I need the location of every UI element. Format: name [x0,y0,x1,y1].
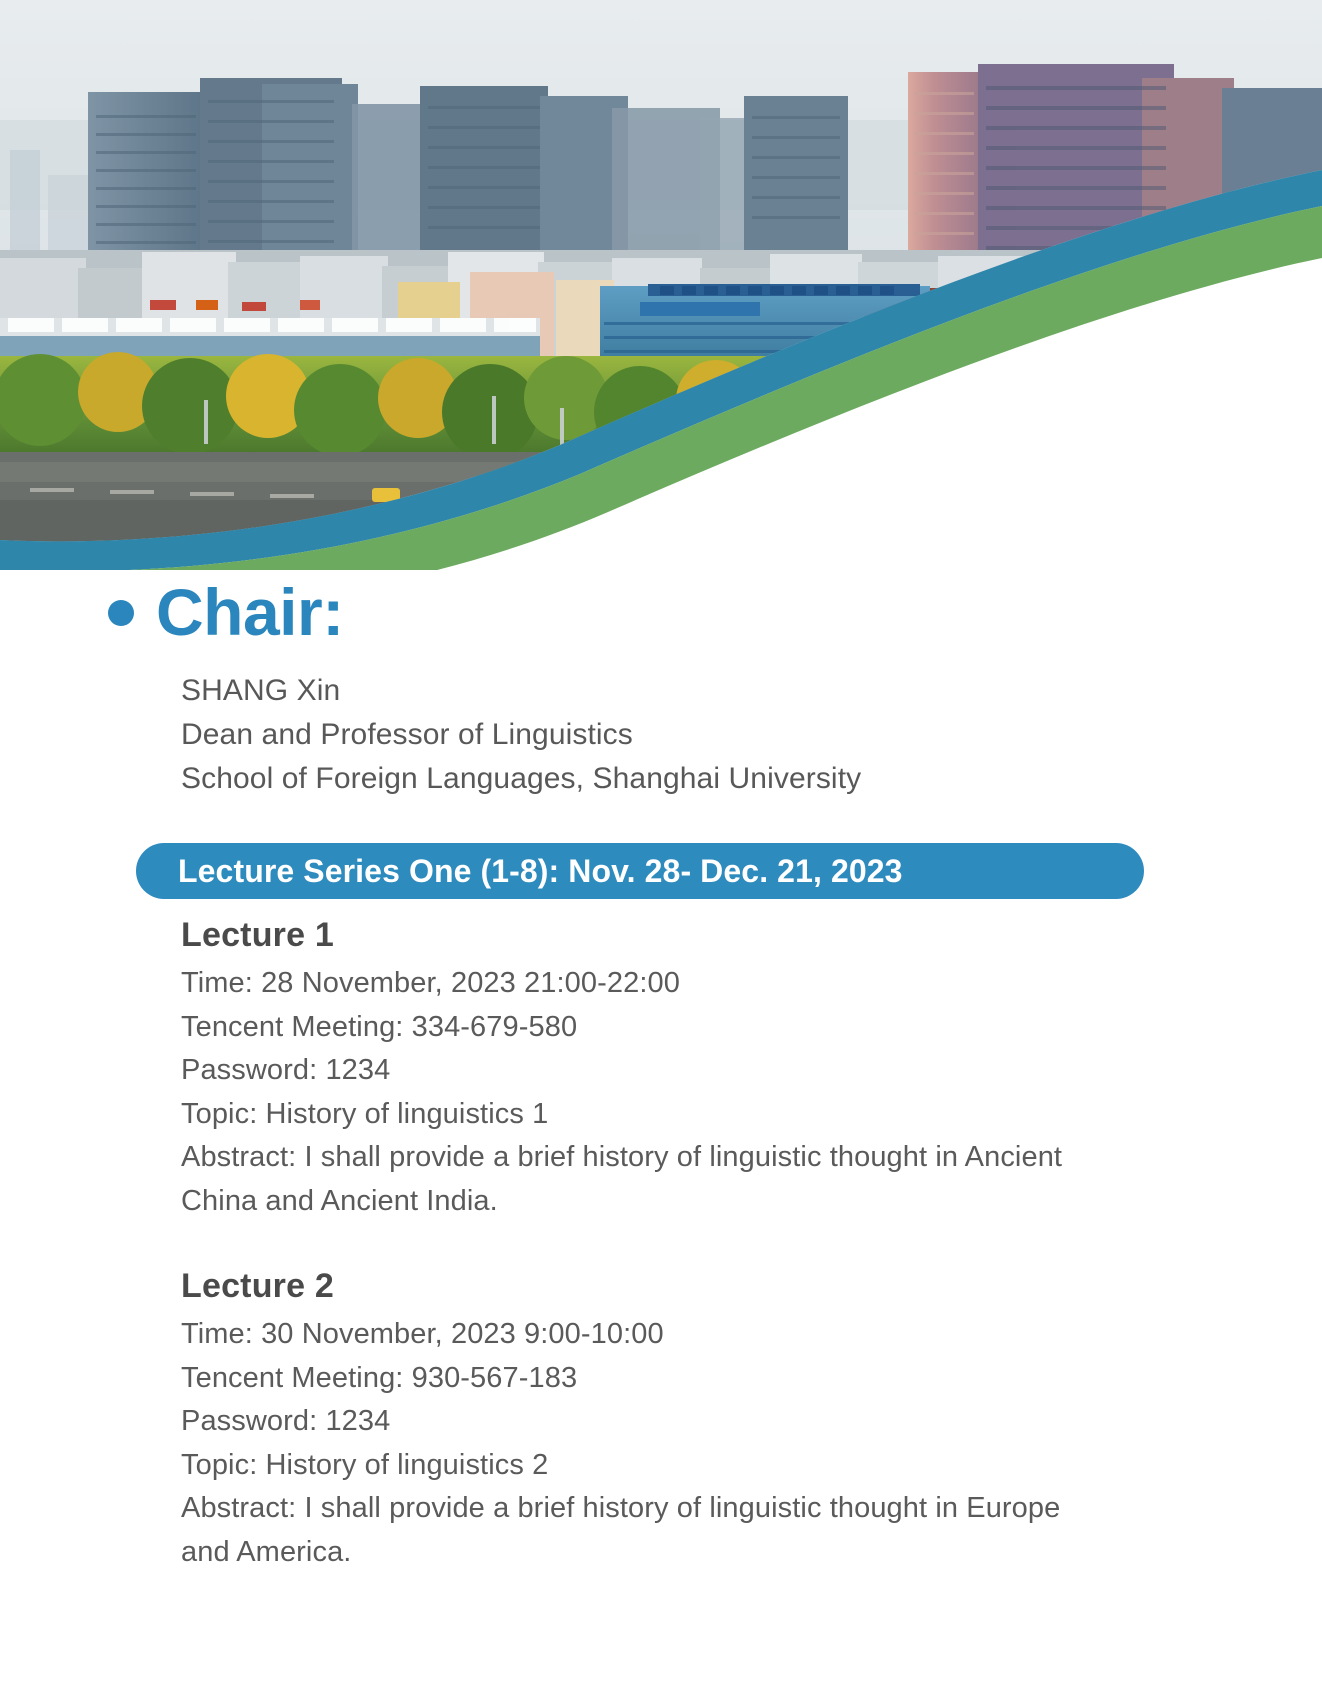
lecture-topic: Topic: History of linguistics 1 [181,1093,1101,1137]
poster-page: Chair: SHANG Xin Dean and Professor of L… [0,0,1322,1687]
lecture-title: Lecture 2 [181,1267,1101,1306]
chair-details: SHANG Xin Dean and Professor of Linguist… [0,647,1322,800]
lecture-series-label: Lecture Series One (1-8): Nov. 28- Dec. … [178,853,903,890]
lecture-time: Time: 28 November, 2023 21:00-22:00 [181,962,1101,1006]
chair-heading-row: Chair: [0,578,1322,647]
chair-affiliation: School of Foreign Languages, Shanghai Un… [181,757,1322,801]
lecture-item: Lecture 2 Time: 30 November, 2023 9:00-1… [181,1267,1101,1574]
header-banner [0,0,1322,570]
bullet-dot-icon [108,600,134,626]
lecture-series-banner: Lecture Series One (1-8): Nov. 28- Dec. … [136,843,1144,899]
lecture-title: Lecture 1 [181,916,1101,955]
lecture-password: Password: 1234 [181,1049,1101,1093]
lecture-meeting-id: Tencent Meeting: 334-679-580 [181,1006,1101,1050]
lecture-time: Time: 30 November, 2023 9:00-10:00 [181,1313,1101,1357]
lecture-abstract: Abstract: I shall provide a brief histor… [181,1136,1086,1223]
lecture-item: Lecture 1 Time: 28 November, 2023 21:00-… [181,916,1101,1223]
lecture-meeting-id: Tencent Meeting: 930-567-183 [181,1357,1101,1401]
lecture-password: Password: 1234 [181,1400,1101,1444]
chair-name: SHANG Xin [181,669,1322,713]
city-skyline-photo [0,0,1322,570]
chair-section: Chair: SHANG Xin Dean and Professor of L… [0,578,1322,801]
lecture-abstract: Abstract: I shall provide a brief histor… [181,1487,1086,1574]
chair-heading: Chair: [156,578,344,647]
lecture-topic: Topic: History of linguistics 2 [181,1444,1101,1488]
lecture-list: Lecture 1 Time: 28 November, 2023 21:00-… [181,916,1101,1618]
chair-title-role: Dean and Professor of Linguistics [181,713,1322,757]
